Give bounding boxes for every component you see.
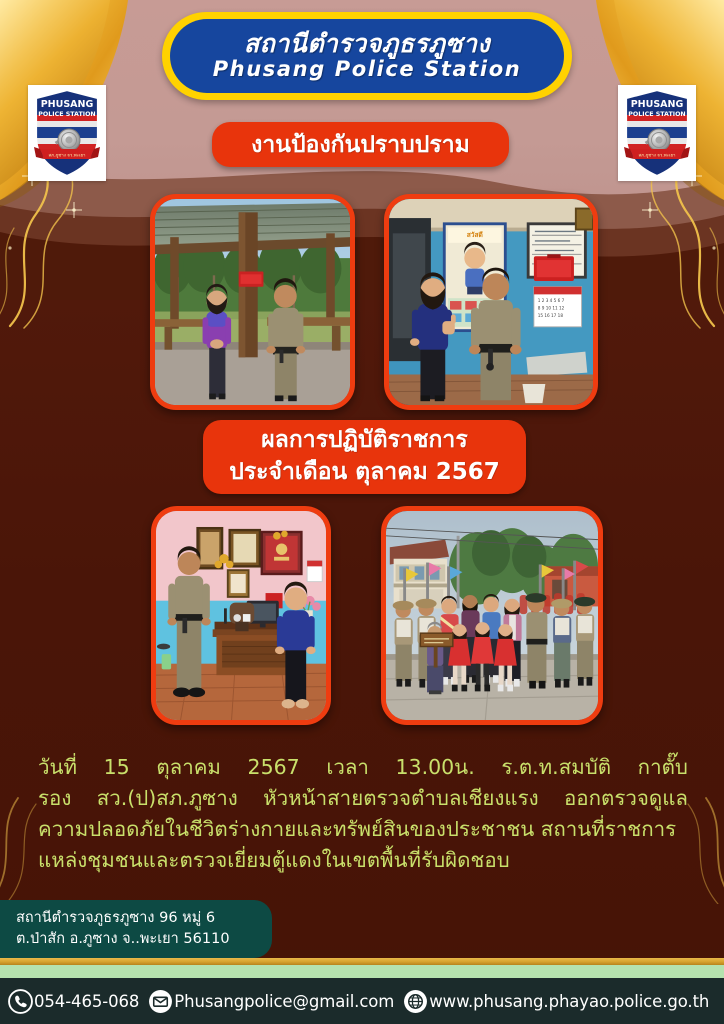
activity-l1-p3: ตุลาคม bbox=[156, 752, 221, 783]
title-banner-inner: สถานีตำรวจภูธรภูซาง Phusang Police Stati… bbox=[170, 19, 564, 93]
svg-text:สภ.ภูซาง จว.พะเยา: สภ.ภูซาง จว.พะเยา bbox=[638, 153, 676, 159]
poster-root: สถานีตำรวจภูธรภูซาง Phusang Police Stati… bbox=[0, 0, 724, 1024]
svg-text:POLICE STATION: POLICE STATION bbox=[628, 111, 685, 118]
green-divider-stripe bbox=[0, 965, 724, 978]
activity-l2-p1: รอง bbox=[38, 783, 71, 814]
svg-text:สภ.ภูซาง จว.พะเยา: สภ.ภูซาง จว.พะเยา bbox=[48, 153, 86, 159]
activity-line-4: แหล่งชุมชนและตรวจเยี่ยมตู้แดงในเขตพื้นที… bbox=[38, 845, 688, 876]
svg-text:POLICE STATION: POLICE STATION bbox=[38, 111, 95, 118]
photo-community-group bbox=[381, 506, 603, 725]
police-badge-right: PHUSANG POLICE STATION สภ.ภูซาง จว.พะเยา bbox=[618, 85, 696, 181]
contact-bar: 054-465-068 Phusangpolice@gmail.com www.… bbox=[0, 978, 724, 1024]
phusang-police-badge-icon: PHUSANG POLICE STATION สภ.ภูซาง จว.พะเยา bbox=[28, 85, 106, 181]
svg-text:15 16 17 18: 15 16 17 18 bbox=[538, 313, 564, 318]
globe-icon bbox=[403, 989, 428, 1014]
address-line-1: สถานีตำรวจภูธรภูซาง 96 หมู่ 6 bbox=[16, 908, 272, 929]
phone-icon bbox=[8, 989, 33, 1014]
activity-l1-p2: 15 bbox=[104, 752, 130, 783]
result-heading-line2: ประจำเดือน ตุลาคม 2567 bbox=[229, 457, 500, 489]
activity-description: วันที่ 15 ตุลาคม 2567 เวลา 13.00น. ร.ต.ท… bbox=[38, 752, 688, 877]
svg-text:PHUSANG: PHUSANG bbox=[41, 99, 94, 110]
photo-office-visit bbox=[151, 506, 331, 725]
section-heading-text: งานป้องกันปราบปราม bbox=[251, 127, 470, 163]
activity-l1-p4: 2567 bbox=[248, 752, 300, 783]
station-title-thai: สถานีตำรวจภูธรภูซาง bbox=[244, 31, 490, 57]
station-address-box: สถานีตำรวจภูธรภูซาง 96 หมู่ 6 ต.ป่าสัก อ… bbox=[0, 900, 272, 958]
contact-website[interactable]: www.phusang.phayao.police.go.th bbox=[403, 989, 709, 1014]
activity-l1-p5: เวลา bbox=[326, 752, 369, 783]
phusang-police-badge-icon: PHUSANG POLICE STATION สภ.ภูซาง จว.พะเยา bbox=[618, 85, 696, 181]
contact-phone[interactable]: 054-465-068 bbox=[8, 989, 139, 1014]
website-url: www.phusang.phayao.police.go.th bbox=[429, 992, 709, 1011]
station-title-english: Phusang Police Station bbox=[213, 58, 522, 81]
activity-l2-p3: หัวหน้าสายตรวจตำบลเชียงแรง bbox=[263, 783, 539, 814]
photo-pavilion-patrol bbox=[150, 194, 355, 410]
activity-l1-p8: กาตั๊บ bbox=[638, 752, 688, 783]
envelope-icon bbox=[148, 989, 173, 1014]
email-address: Phusangpolice@gmail.com bbox=[174, 992, 394, 1011]
svg-text:1 2 3 4 5 6 7: 1 2 3 4 5 6 7 bbox=[538, 298, 565, 303]
activity-l2-p2: สว.(ป)สภ.ภูซาง bbox=[97, 783, 238, 814]
activity-line-1: วันที่ 15 ตุลาคม 2567 เวลา 13.00น. ร.ต.ท… bbox=[38, 752, 688, 783]
svg-text:PHUSANG: PHUSANG bbox=[631, 99, 684, 110]
activity-line-3: ความปลอดภัยในชีวิตร่างกายและทรัพย์สินของ… bbox=[38, 814, 688, 845]
svg-text:สวัสดี: สวัสดี bbox=[467, 231, 483, 239]
phone-number: 054-465-068 bbox=[34, 992, 139, 1011]
photo-thumbs-up-red-box: สวัสดี bbox=[384, 194, 598, 410]
section-heading-banner: งานป้องกันปราบปราม bbox=[212, 122, 509, 167]
result-heading-banner: ผลการปฏิบัติราชการ ประจำเดือน ตุลาคม 256… bbox=[203, 420, 526, 494]
activity-l1-p7: ร.ต.ท.สมบัติ bbox=[501, 752, 611, 783]
police-badge-left: PHUSANG POLICE STATION สภ.ภูซาง จว.พะเยา bbox=[28, 85, 106, 181]
title-banner: สถานีตำรวจภูธรภูซาง Phusang Police Stati… bbox=[162, 12, 572, 100]
activity-l1-p1: วันที่ bbox=[38, 752, 77, 783]
activity-l2-p4: ออกตรวจดูแล bbox=[564, 783, 688, 814]
activity-l1-p6: 13.00น. bbox=[396, 752, 475, 783]
activity-line-2: รอง สว.(ป)สภ.ภูซาง หัวหน้าสายตรวจตำบลเชี… bbox=[38, 783, 688, 814]
result-heading-line1: ผลการปฏิบัติราชการ bbox=[261, 425, 467, 457]
contact-email[interactable]: Phusangpolice@gmail.com bbox=[148, 989, 394, 1014]
address-line-2: ต.ป่าสัก อ.ภูซาง จ..พะเยา 56110 bbox=[16, 929, 272, 950]
svg-text:8 9 10 11 12: 8 9 10 11 12 bbox=[538, 306, 565, 311]
gold-divider-bar bbox=[0, 958, 724, 965]
